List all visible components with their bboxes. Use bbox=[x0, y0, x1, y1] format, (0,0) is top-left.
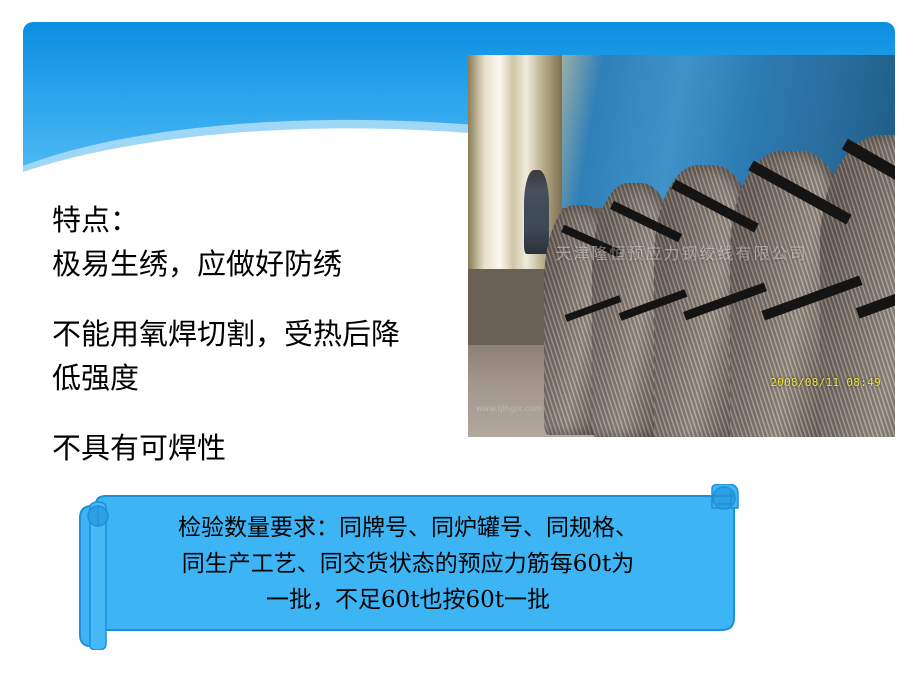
slide-body-text: 特点： 极易生绣，应做好防绣 不能用氧焊切割，受热后降 低强度 不具有可焊性 bbox=[52, 198, 452, 470]
content-line-4: 不具有可焊性 bbox=[52, 426, 452, 470]
photo-timestamp: 2008/08/11 08:49 bbox=[770, 376, 881, 389]
steel-strand-coils-warehouse-photo: 天津隆恒预应力钢绞线有限公司 www.tjlhgjx.com 2008/08/1… bbox=[468, 55, 895, 437]
scroll-line-2: 同生产工艺、同交货状态的预应力筋每60t为 bbox=[110, 546, 706, 582]
text-spacer bbox=[52, 400, 452, 426]
photo-watermark-small: www.tjlhgjx.com bbox=[476, 404, 542, 413]
scroll-line-1: 检验数量要求：同牌号、同炉罐号、同规格、 bbox=[110, 510, 706, 546]
content-heading: 特点： bbox=[52, 198, 452, 242]
text-spacer bbox=[52, 286, 452, 312]
content-line-1: 极易生绣，应做好防绣 bbox=[52, 242, 452, 286]
scroll-callout-text: 检验数量要求：同牌号、同炉罐号、同规格、 同生产工艺、同交货状态的预应力筋每60… bbox=[110, 510, 706, 618]
content-line-3: 低强度 bbox=[52, 356, 452, 400]
content-line-2: 不能用氧焊切割，受热后降 bbox=[52, 312, 452, 356]
scroll-line-3: 一批，不足60t也按60t一批 bbox=[110, 582, 706, 618]
horizontal-scroll-callout: 检验数量要求：同牌号、同炉罐号、同规格、 同生产工艺、同交货状态的预应力筋每60… bbox=[72, 484, 746, 650]
presentation-slide: 天津隆恒预应力钢绞线有限公司 www.tjlhgjx.com 2008/08/1… bbox=[0, 0, 920, 690]
photo-watermark: 天津隆恒预应力钢绞线有限公司 bbox=[468, 240, 895, 264]
